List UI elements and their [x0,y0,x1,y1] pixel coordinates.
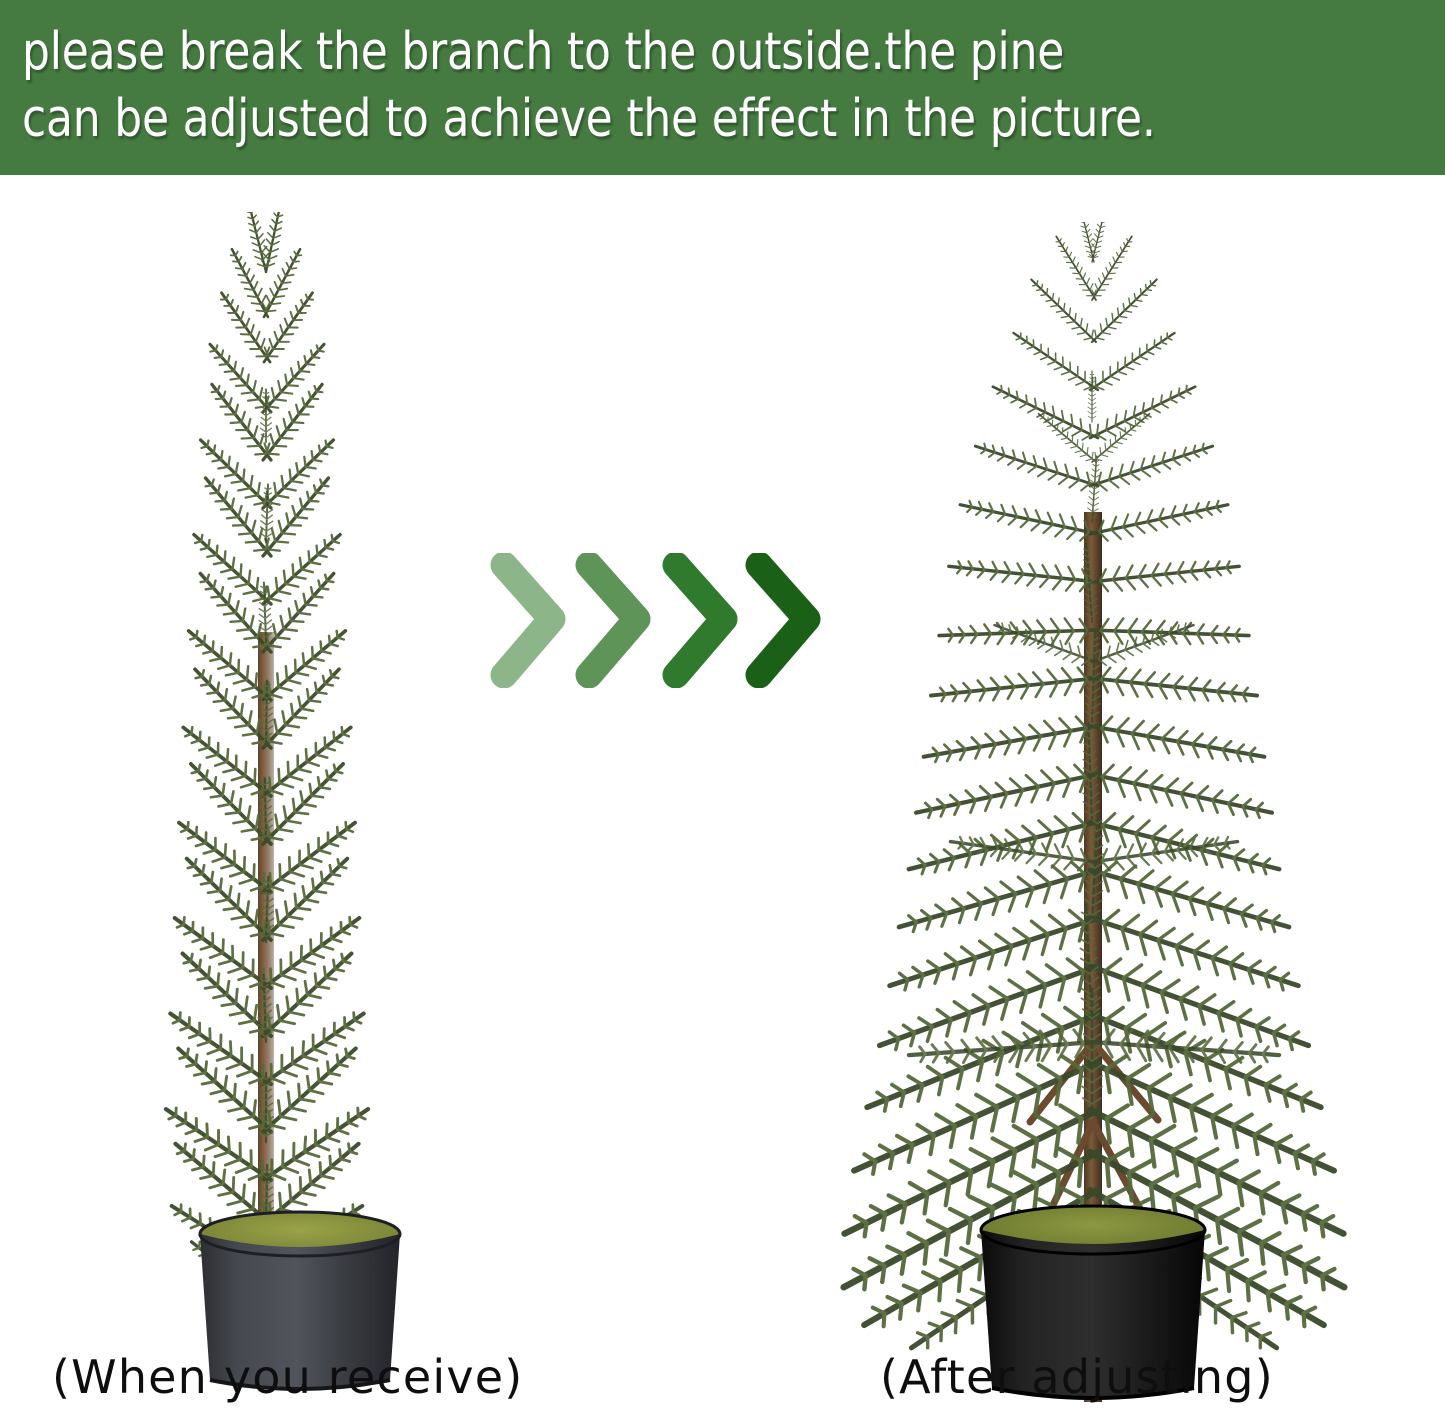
banner-line-2: can be adjusted to achieve the effect in… [22,86,1345,153]
chevron-right-icon [662,553,742,688]
chevron-right-icon [745,553,825,688]
caption-before: (When you receive) [52,1350,523,1404]
chevron-right-icon [575,553,655,688]
instruction-banner: please break the branch to the outside.t… [0,0,1445,175]
banner-line-1: please break the branch to the outside.t… [22,19,1345,86]
narrow-pine-tree-illustration [60,212,480,1412]
tree-after-adjusting [740,222,1445,1412]
infographic-page: please break the branch to the outside.t… [0,0,1445,1412]
transformation-arrows [490,553,825,688]
tree-before-adjusting [60,212,480,1412]
comparison-stage: (When you receive) (After adjusting) [0,175,1445,1412]
full-pine-tree-illustration [740,222,1445,1412]
caption-after: (After adjusting) [880,1350,1274,1404]
chevron-right-icon [490,553,570,688]
